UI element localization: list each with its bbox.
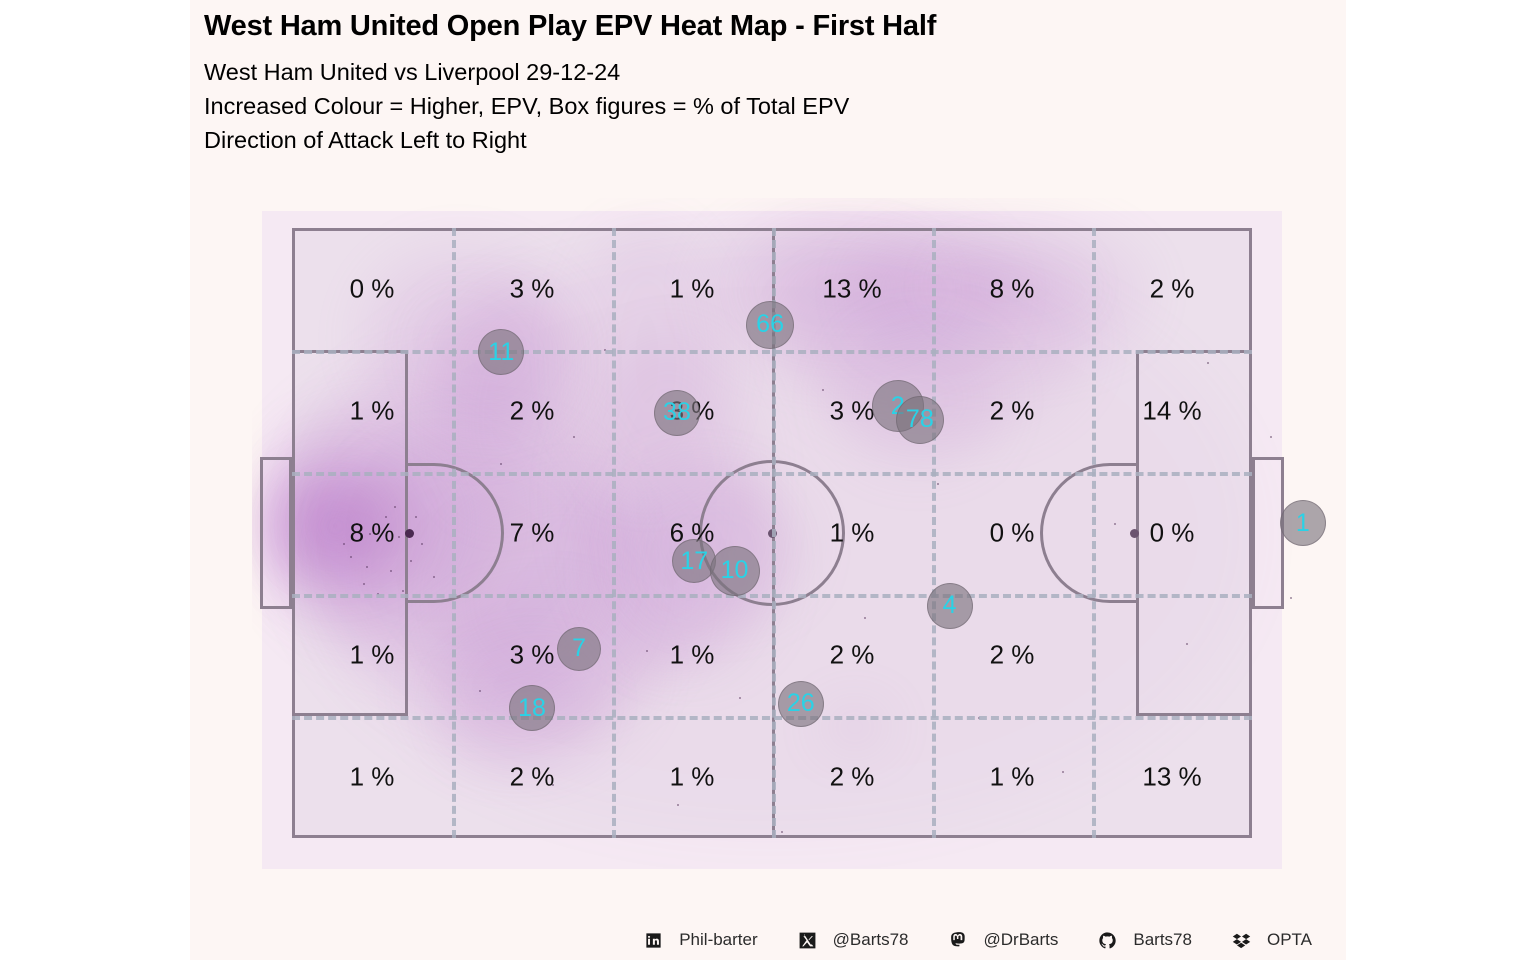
subtitle-line-legend: Increased Colour = Higher, EPV, Box figu… [204,89,1334,123]
zone-grid-line-horizontal [292,594,1252,598]
player-marker[interactable]: 26 [778,681,824,727]
social-x-twitter[interactable]: @Barts78 [798,930,909,950]
page-title: West Ham United Open Play EPV Heat Map -… [204,10,1334,43]
football-pitch: 0 %3 %1 %13 %8 %2 %1 %2 %3 %3 %2 %14 %8 … [292,228,1252,838]
player-marker[interactable]: 11 [478,329,524,375]
player-marker[interactable]: 38 [654,390,700,436]
github-icon [1098,931,1117,950]
social-github[interactable]: Barts78 [1098,930,1192,950]
linkedin-icon [644,931,663,950]
zone-epv-label: 1 % [612,274,772,305]
zone-epv-label: 2 % [772,762,932,793]
social-x-twitter-label: @Barts78 [833,930,909,950]
zone-epv-label: 2 % [932,396,1092,427]
zone-epv-label: 2 % [772,640,932,671]
zone-epv-label: 1 % [292,640,452,671]
goal-right [1252,457,1284,609]
epv-event-speck [1290,597,1292,599]
social-github-label: Barts78 [1133,930,1192,950]
player-marker[interactable]: 78 [896,396,944,444]
zone-grid-line-horizontal [292,716,1252,720]
zone-epv-label: 13 % [772,274,932,305]
zone-epv-label: 2 % [452,396,612,427]
zone-epv-label: 2 % [932,640,1092,671]
x-twitter-icon [798,931,817,950]
zone-epv-label: 1 % [612,762,772,793]
zone-epv-label: 2 % [1092,274,1252,305]
player-marker[interactable]: 4 [927,583,973,629]
player-marker[interactable]: 7 [557,627,601,671]
figure-canvas: West Ham United Open Play EPV Heat Map -… [190,0,1346,960]
social-linkedin-label: Phil-barter [679,930,757,950]
goal-left [260,457,292,609]
zone-epv-label: 2 % [452,762,612,793]
zone-epv-label: 3 % [452,274,612,305]
zone-epv-label: 0 % [292,274,452,305]
social-mastodon[interactable]: @DrBarts [949,930,1059,950]
zone-epv-label: 14 % [1092,396,1252,427]
player-marker[interactable]: 10 [710,546,760,596]
zone-grid-line-horizontal [292,350,1252,354]
zone-epv-label: 1 % [292,762,452,793]
zone-epv-label: 8 % [932,274,1092,305]
mastodon-icon [949,931,968,950]
zone-epv-label: 0 % [932,518,1092,549]
player-marker[interactable]: 18 [509,685,555,731]
dropbox-icon [1232,931,1251,950]
zone-epv-label: 1 % [772,518,932,549]
social-dropbox[interactable]: OPTA [1232,930,1312,950]
zone-epv-label: 8 % [292,518,452,549]
subtitle-line-direction: Direction of Attack Left to Right [204,123,1334,157]
zone-grid-line-horizontal [292,472,1252,476]
zone-epv-label: 0 % [1092,518,1252,549]
social-footer: Phil-barter @Barts78 @DrBarts Barts78 OP [190,920,1346,960]
player-marker[interactable]: 1 [1280,500,1326,546]
player-marker[interactable]: 66 [746,301,794,349]
zone-epv-label: 13 % [1092,762,1252,793]
zone-epv-label: 1 % [612,640,772,671]
social-dropbox-label: OPTA [1267,930,1312,950]
subtitle-line-match: West Ham United vs Liverpool 29-12-24 [204,55,1334,89]
zone-epv-label: 1 % [932,762,1092,793]
social-mastodon-label: @DrBarts [984,930,1059,950]
social-linkedin[interactable]: Phil-barter [644,930,757,950]
chart-header: West Ham United Open Play EPV Heat Map -… [204,10,1334,157]
chart-subtitle: West Ham United vs Liverpool 29-12-24 In… [204,55,1334,157]
zone-epv-label: 1 % [292,396,452,427]
zone-epv-label: 7 % [452,518,612,549]
